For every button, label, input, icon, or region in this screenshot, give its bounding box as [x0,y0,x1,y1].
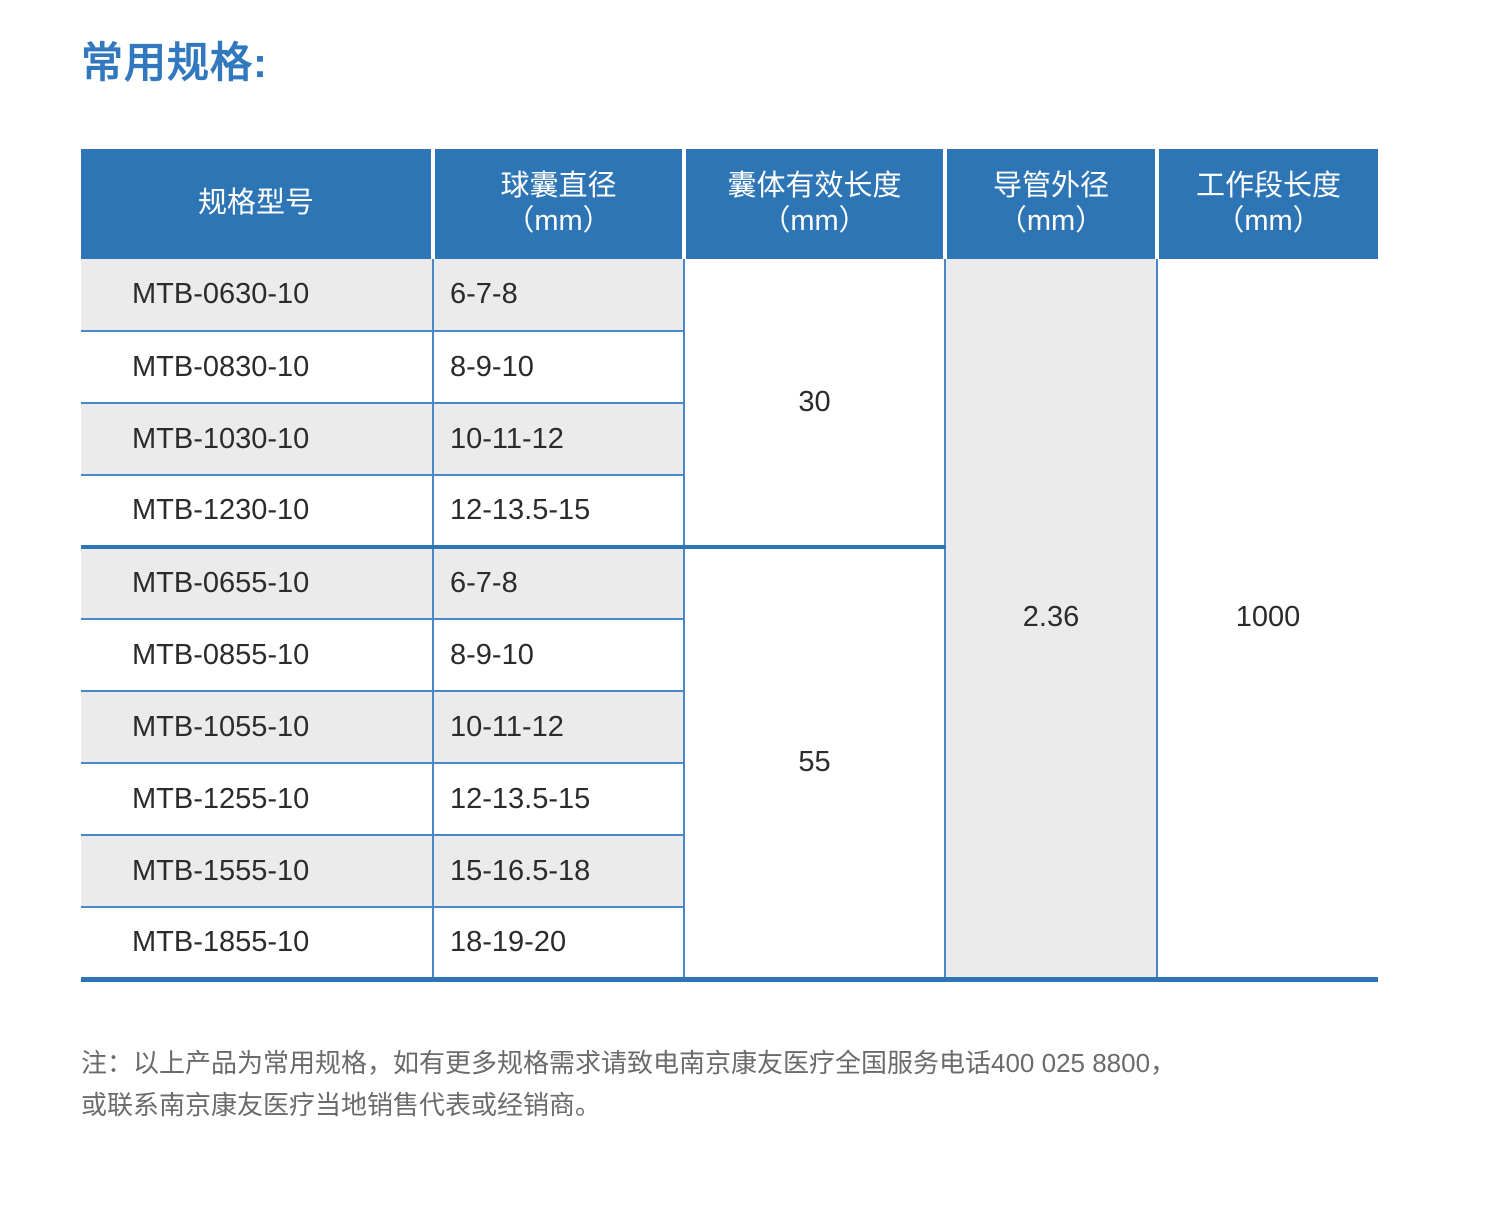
cell-balloon-diameter: 10-11-12 [433,403,684,475]
cell-balloon-diameter: 6-7-8 [433,259,684,331]
column-header-working-length: 工作段长度 （mm） [1157,149,1378,259]
cell-balloon-diameter: 6-7-8 [433,547,684,619]
column-header-working-length-unit: （mm） [1161,204,1376,239]
column-header-catheter-od-unit: （mm） [949,204,1153,239]
table-header-row: 规格型号 球囊直径 （mm） 囊体有效长度 （mm） 导管外径 （mm） [81,149,1378,259]
cell-model: MTB-0630-10 [81,259,433,331]
footnote-line-2: 或联系南京康友医疗当地销售代表或经销商。 [81,1084,1381,1126]
column-header-balloon-length-line1: 囊体有效长度 [688,169,941,204]
cell-balloon-diameter: 15-16.5-18 [433,835,684,907]
specification-table: 规格型号 球囊直径 （mm） 囊体有效长度 （mm） 导管外径 （mm） [81,149,1378,982]
column-header-balloon-diameter-unit: （mm） [437,204,680,239]
cell-model: MTB-0855-10 [81,619,433,691]
cell-model: MTB-1055-10 [81,691,433,763]
cell-model: MTB-0830-10 [81,331,433,403]
column-header-working-length-line1: 工作段长度 [1161,169,1376,204]
cell-model: MTB-0655-10 [81,547,433,619]
footnote: 注：以上产品为常用规格，如有更多规格需求请致电南京康友医疗全国服务电话400 0… [81,1042,1381,1126]
spec-table-container: 规格型号 球囊直径 （mm） 囊体有效长度 （mm） 导管外径 （mm） [81,149,1378,982]
cell-balloon-diameter: 10-11-12 [433,691,684,763]
spec-page: 常用规格: 规格型号 球囊直径 （mm） 囊体有效长度 （mm） [0,0,1489,1223]
cell-balloon-length-group2: 55 [684,547,945,979]
cell-balloon-length-group1: 30 [684,259,945,547]
cell-model: MTB-1555-10 [81,835,433,907]
cell-balloon-diameter: 12-13.5-15 [433,763,684,835]
cell-model: MTB-1855-10 [81,907,433,979]
column-header-model-line1: 规格型号 [83,186,429,221]
table-body: MTB-0630-10 6-7-8 30 2.36 1000 MTB-0830-… [81,259,1378,979]
cell-model: MTB-1030-10 [81,403,433,475]
cell-working-length: 1000 [1157,259,1378,979]
footnote-line-1: 注：以上产品为常用规格，如有更多规格需求请致电南京康友医疗全国服务电话400 0… [81,1042,1381,1084]
cell-balloon-diameter: 8-9-10 [433,331,684,403]
cell-balloon-diameter: 18-19-20 [433,907,684,979]
cell-balloon-diameter: 12-13.5-15 [433,475,684,547]
cell-catheter-od: 2.36 [945,259,1157,979]
page-title: 常用规格: [81,38,268,88]
table-row: MTB-0630-10 6-7-8 30 2.36 1000 [81,259,1378,331]
column-header-catheter-od: 导管外径 （mm） [945,149,1157,259]
column-header-balloon-diameter-line1: 球囊直径 [437,169,680,204]
column-header-balloon-length-unit: （mm） [688,204,941,239]
column-header-catheter-od-line1: 导管外径 [949,169,1153,204]
column-header-balloon-diameter: 球囊直径 （mm） [433,149,684,259]
table-header: 规格型号 球囊直径 （mm） 囊体有效长度 （mm） 导管外径 （mm） [81,149,1378,259]
cell-model: MTB-1230-10 [81,475,433,547]
column-header-balloon-length: 囊体有效长度 （mm） [684,149,945,259]
cell-model: MTB-1255-10 [81,763,433,835]
cell-balloon-diameter: 8-9-10 [433,619,684,691]
column-header-model: 规格型号 [81,149,433,259]
